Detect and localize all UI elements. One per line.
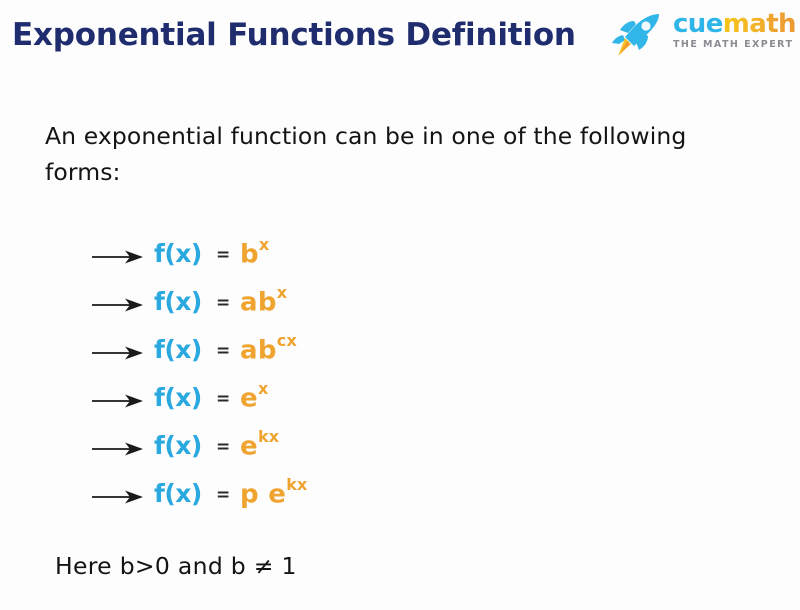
formula-row: f(x) = ex (92, 382, 512, 430)
equals-sign: = (216, 389, 230, 409)
formula-exponent: kx (286, 475, 307, 494)
formula-base: e (240, 384, 258, 414)
formula-base: ab (240, 336, 277, 366)
logo-tagline: THE MATH EXPERT (673, 39, 791, 50)
arrow-right-icon (92, 346, 144, 360)
function-label: f(x) (154, 287, 202, 316)
function-label: f(x) (154, 431, 202, 460)
arrow-right-icon (92, 250, 144, 264)
formula-expression: ex (240, 382, 268, 414)
formula-base: p e (240, 480, 286, 510)
formula-expression: ekx (240, 430, 279, 462)
formula-row: f(x) = abcx (92, 334, 512, 382)
formula-exponent: kx (258, 427, 279, 446)
equals-sign: = (216, 341, 230, 361)
formula-row: f(x) = abx (92, 286, 512, 334)
formula-expression: abcx (240, 334, 297, 366)
formula-base: ab (240, 288, 277, 318)
formula-expression: abx (240, 286, 287, 318)
equals-sign: = (216, 245, 230, 265)
logo-wordmark: cuemath THE MATH EXPERT (673, 10, 791, 60)
formula-row: f(x) = p ekx (92, 478, 512, 526)
formula-exponent: x (258, 379, 269, 398)
formula-row: f(x) = bx (92, 238, 512, 286)
arrow-right-icon (92, 394, 144, 408)
page-title: Exponential Functions Definition (12, 17, 576, 53)
cuemath-logo[interactable]: cuemath THE MATH EXPERT (607, 8, 792, 62)
function-label: f(x) (154, 479, 202, 508)
function-label: f(x) (154, 239, 202, 268)
footer-note: Here b>0 and b ≠ 1 (55, 552, 297, 580)
formula-exponent: x (277, 283, 288, 302)
formula-expression: bx (240, 238, 269, 270)
formula-expression: p ekx (240, 478, 308, 510)
formula-list: f(x) = bx f(x) = abx f(x) = abcx (92, 238, 512, 526)
arrow-right-icon (92, 490, 144, 504)
formula-exponent: x (259, 235, 270, 254)
function-label: f(x) (154, 383, 202, 412)
equals-sign: = (216, 437, 230, 457)
wordmark-cue: cue (673, 9, 723, 39)
wordmark-math: math (723, 9, 796, 39)
wordmark-text: cuemath (673, 10, 791, 38)
formula-row: f(x) = ekx (92, 430, 512, 478)
page-header: Exponential Functions Definition cuemath (0, 0, 800, 78)
rocket-icon (607, 11, 669, 59)
equals-sign: = (216, 293, 230, 313)
equals-sign: = (216, 485, 230, 505)
formula-base: b (240, 240, 259, 270)
formula-base: e (240, 432, 258, 462)
function-label: f(x) (154, 335, 202, 364)
arrow-right-icon (92, 298, 144, 312)
arrow-right-icon (92, 442, 144, 456)
intro-paragraph: An exponential function can be in one of… (45, 118, 705, 190)
formula-exponent: cx (277, 331, 297, 350)
